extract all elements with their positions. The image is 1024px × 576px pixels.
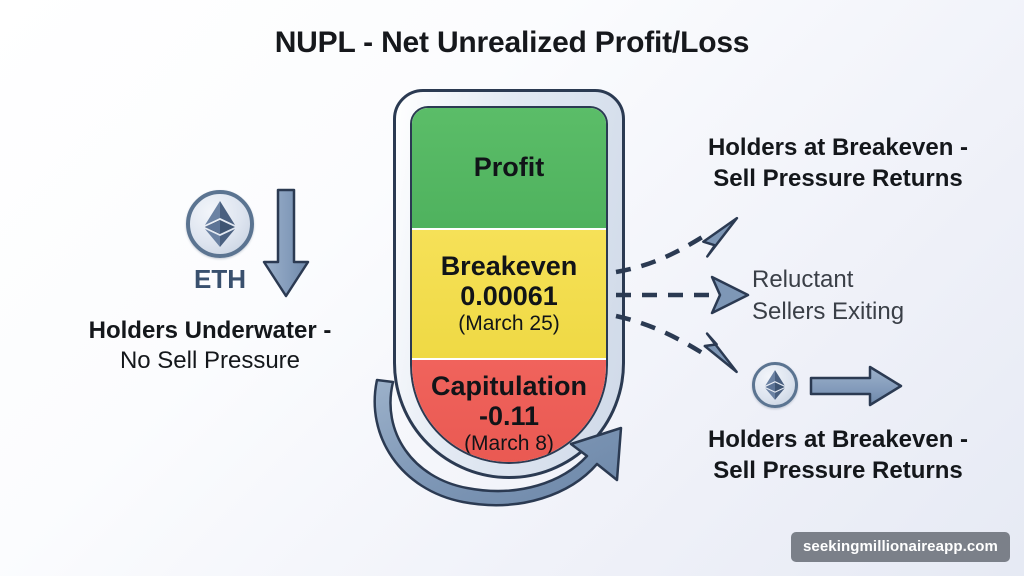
- band-breakeven-value: 0.00061: [460, 281, 558, 311]
- recovery-curved-arrow: [355, 372, 665, 512]
- band-profit: Profit: [412, 108, 606, 228]
- band-breakeven-label: Breakeven: [441, 252, 578, 281]
- right-top-label: Holders at Breakeven - Sell Pressure Ret…: [660, 132, 1016, 194]
- left-caption-line2: No Sell Pressure: [40, 346, 380, 376]
- eth-coin-right: [752, 362, 798, 408]
- band-breakeven-date: (March 25): [458, 312, 560, 336]
- page-title: NUPL - Net Unrealized Profit/Loss: [0, 26, 1024, 60]
- dashed-line-up: [616, 236, 704, 272]
- dashed-line-down: [616, 316, 704, 354]
- right-mid-label: Reluctant Sellers Exiting: [752, 264, 1020, 327]
- right-mid-label-line1: Reluctant: [752, 266, 853, 293]
- diagram-canvas: NUPL - Net Unrealized Profit/Loss Profit…: [0, 0, 1024, 576]
- eth-coin-circle: [186, 190, 254, 258]
- right-bottom-label: Holders at Breakeven - Sell Pressure Ret…: [660, 424, 1016, 486]
- dashed-arrowhead-up: [701, 214, 737, 260]
- eth-coin-circle: [752, 362, 798, 408]
- right-top-label-line1: Holders at Breakeven -: [708, 134, 968, 161]
- dashed-arrowhead-down: [703, 330, 737, 375]
- right-bottom-label-line1: Holders at Breakeven -: [708, 426, 968, 453]
- watermark-badge: seekingmillionaireapp.com: [791, 532, 1010, 562]
- eth-coin-left: [186, 190, 254, 258]
- down-arrow-icon: [258, 186, 314, 300]
- right-arrow-icon: [808, 364, 904, 408]
- left-caption-line1: Holders Underwater -: [40, 316, 380, 346]
- dashed-arrowhead-mid: [712, 277, 748, 313]
- ethereum-icon: [764, 369, 786, 401]
- ethereum-icon: [203, 200, 237, 248]
- right-bottom-label-line2: Sell Pressure Returns: [713, 457, 962, 484]
- right-top-label-line2: Sell Pressure Returns: [713, 165, 962, 192]
- band-profit-label: Profit: [474, 153, 545, 182]
- band-breakeven: Breakeven 0.00061 (March 25): [412, 230, 606, 358]
- left-caption: Holders Underwater - No Sell Pressure: [40, 316, 380, 376]
- right-mid-label-line2: Sellers Exiting: [752, 298, 904, 325]
